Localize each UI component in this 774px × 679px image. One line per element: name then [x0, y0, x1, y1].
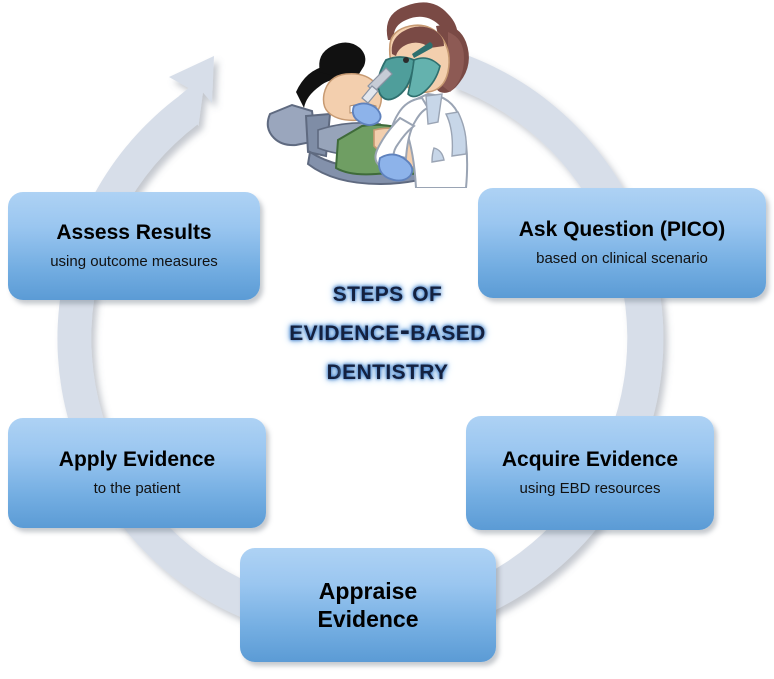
- step-box-appraise-evidence[interactable]: Appraise Evidence: [240, 548, 496, 662]
- step-title-ask: Ask Question (PICO): [519, 218, 726, 242]
- center-title-line-3: Dentistry: [210, 350, 565, 389]
- step-title-assess: Assess Results: [56, 221, 211, 245]
- step-subtitle-acquire: using EBD resources: [520, 480, 661, 498]
- step-title-appraise-line1: Appraise: [319, 577, 417, 605]
- step-subtitle-apply: to the patient: [94, 480, 181, 498]
- step-subtitle-assess: using outcome measures: [50, 253, 218, 271]
- step-subtitle-ask: based on clinical scenario: [536, 250, 708, 268]
- step-box-assess-results[interactable]: Assess Results using outcome measures: [8, 192, 260, 300]
- dentist-treating-patient-icon: [262, 2, 474, 188]
- step-title-apply: Apply Evidence: [59, 448, 215, 472]
- step-box-ask-question[interactable]: Ask Question (PICO) based on clinical sc…: [478, 188, 766, 298]
- center-title-line-2: Evidence-Based: [210, 311, 565, 350]
- step-title-appraise-line2: Evidence: [318, 605, 419, 633]
- step-title-acquire: Acquire Evidence: [502, 448, 678, 472]
- step-box-acquire-evidence[interactable]: Acquire Evidence using EBD resources: [466, 416, 714, 530]
- step-box-apply-evidence[interactable]: Apply Evidence to the patient: [8, 418, 266, 528]
- ebd-cycle-diagram: Assess Results using outcome measures As…: [0, 0, 774, 679]
